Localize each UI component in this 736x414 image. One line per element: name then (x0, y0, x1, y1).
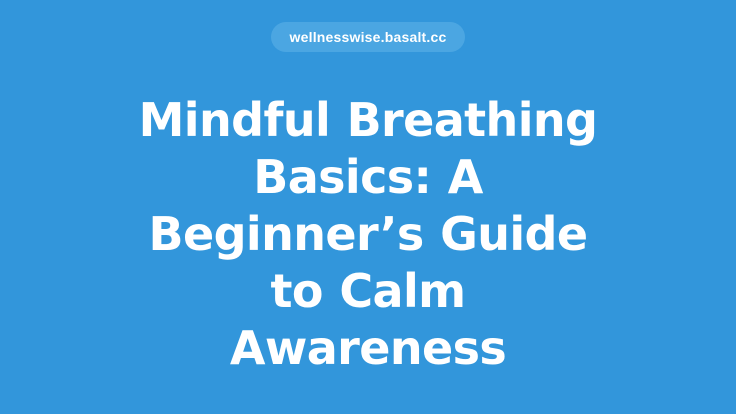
domain-badge: wellnesswise.basalt.cc (271, 22, 466, 52)
article-cover-card: wellnesswise.basalt.cc Mindful Breathing… (0, 0, 736, 414)
page-title: Mindful Breathing Basics: A Beginner’s G… (133, 92, 603, 377)
headline-container: Mindful Breathing Basics: A Beginner’s G… (133, 92, 603, 377)
domain-badge-label: wellnesswise.basalt.cc (290, 30, 447, 44)
